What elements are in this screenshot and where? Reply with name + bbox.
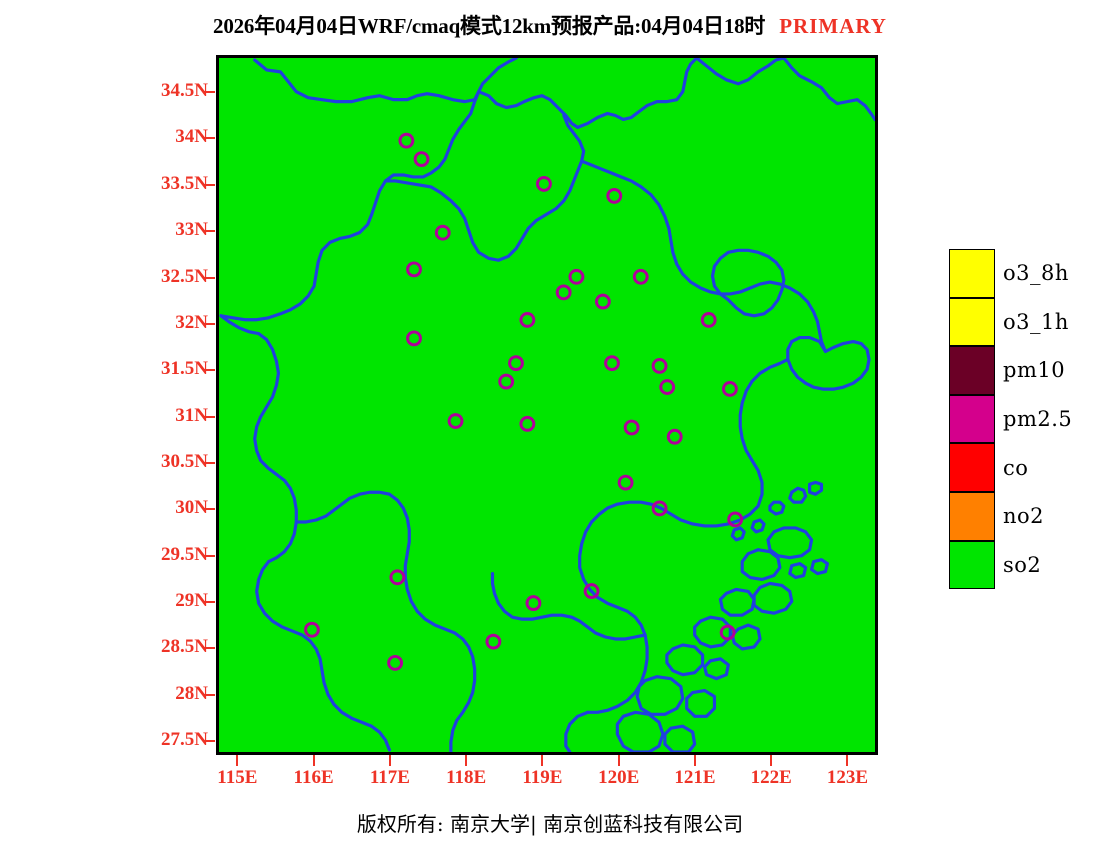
station-marker xyxy=(521,417,534,430)
legend-color-swatch xyxy=(949,492,995,541)
x-axis-label: 116E xyxy=(274,767,354,789)
station-marker xyxy=(408,263,421,276)
station-marker xyxy=(391,571,404,584)
x-axis-tick xyxy=(846,755,848,766)
y-axis-label: 27.5N xyxy=(130,729,208,751)
y-axis-label: 29.5N xyxy=(130,544,208,566)
title-primary-badge: PRIMARY xyxy=(779,14,887,38)
station-marker xyxy=(389,656,402,669)
y-axis-label: 30N xyxy=(130,497,208,519)
station-marker xyxy=(487,635,500,648)
station-marker xyxy=(653,359,666,372)
x-axis-label: 118E xyxy=(426,767,506,789)
page-title: 2026年04月04日WRF/cmaq模式12km预报产品:04月04日18时P… xyxy=(0,10,1100,40)
title-main-text: 2026年04月04日WRF/cmaq模式12km预报产品:04月04日18时 xyxy=(213,14,765,38)
x-axis-tick xyxy=(313,755,315,766)
x-axis-tick xyxy=(465,755,467,766)
legend-color-swatch xyxy=(949,298,995,347)
legend-label: o3_1h xyxy=(1003,310,1069,334)
station-marker xyxy=(625,421,638,434)
x-axis-tick xyxy=(770,755,772,766)
y-axis-label: 29N xyxy=(130,590,208,612)
legend-item[interactable]: o3_1h xyxy=(949,298,995,347)
station-marker xyxy=(537,177,550,190)
legend-label: pm10 xyxy=(1003,358,1065,382)
y-axis-label: 32.5N xyxy=(130,266,208,288)
x-axis-tick xyxy=(389,755,391,766)
legend-color-swatch xyxy=(949,346,995,395)
station-marker xyxy=(606,357,619,370)
x-axis-tick xyxy=(618,755,620,766)
legend-color-swatch xyxy=(949,541,995,590)
station-marker xyxy=(721,626,734,639)
y-axis-label: 33N xyxy=(130,219,208,241)
y-axis-label: 32N xyxy=(130,312,208,334)
y-axis-label: 34.5N xyxy=(130,80,208,102)
station-marker xyxy=(557,286,570,299)
x-axis-label: 117E xyxy=(350,767,430,789)
province-boundaries xyxy=(221,58,875,752)
legend-color-swatch xyxy=(949,249,995,298)
x-axis-label: 120E xyxy=(579,767,659,789)
legend-item[interactable]: so2 xyxy=(949,541,995,590)
x-axis-tick xyxy=(694,755,696,766)
station-marker xyxy=(608,189,621,202)
legend-item[interactable]: no2 xyxy=(949,492,995,541)
station-marker xyxy=(436,226,449,239)
x-axis-label: 119E xyxy=(502,767,582,789)
map-canvas xyxy=(219,58,875,752)
legend-label: pm2.5 xyxy=(1003,407,1072,431)
station-marker xyxy=(527,597,540,610)
legend-label: co xyxy=(1003,456,1028,480)
station-marker xyxy=(702,313,715,326)
y-axis-label: 30.5N xyxy=(130,451,208,473)
y-axis-label: 28N xyxy=(130,683,208,705)
y-axis-label: 33.5N xyxy=(130,173,208,195)
legend-color-swatch xyxy=(949,395,995,444)
legend-label: o3_8h xyxy=(1003,261,1069,285)
station-marker xyxy=(400,134,413,147)
station-marker xyxy=(408,332,421,345)
map-plot-area xyxy=(216,55,878,755)
y-axis-label: 31N xyxy=(130,405,208,427)
x-axis-label: 115E xyxy=(197,767,277,789)
station-marker xyxy=(596,295,609,308)
x-axis-label: 121E xyxy=(655,767,735,789)
legend: o3_8ho3_1hpm10pm2.5cono2so2 xyxy=(949,249,995,589)
station-marker xyxy=(634,270,647,283)
station-marker xyxy=(619,476,632,489)
station-marker xyxy=(661,381,674,394)
x-axis-label: 122E xyxy=(731,767,811,789)
station-marker xyxy=(306,623,319,636)
legend-label: so2 xyxy=(1003,553,1041,577)
station-marker xyxy=(668,430,681,443)
legend-label: no2 xyxy=(1003,504,1044,528)
station-marker xyxy=(500,375,513,388)
legend-color-swatch xyxy=(949,443,995,492)
x-axis-tick xyxy=(541,755,543,766)
station-marker xyxy=(521,313,534,326)
y-axis-label: 31.5N xyxy=(130,358,208,380)
station-marker xyxy=(415,153,428,166)
legend-item[interactable]: co xyxy=(949,443,995,492)
station-marker xyxy=(570,270,583,283)
x-axis-tick xyxy=(236,755,238,766)
station-marker xyxy=(510,357,523,370)
x-axis-label: 123E xyxy=(807,767,887,789)
y-axis-label: 34N xyxy=(130,126,208,148)
legend-item[interactable]: o3_8h xyxy=(949,249,995,298)
station-marker xyxy=(723,382,736,395)
legend-item[interactable]: pm10 xyxy=(949,346,995,395)
station-marker xyxy=(449,415,462,428)
legend-item[interactable]: pm2.5 xyxy=(949,395,995,444)
y-axis-label: 28.5N xyxy=(130,636,208,658)
footer-copyright: 版权所有: 南京大学| 南京创蓝科技有限公司 xyxy=(0,808,1100,837)
